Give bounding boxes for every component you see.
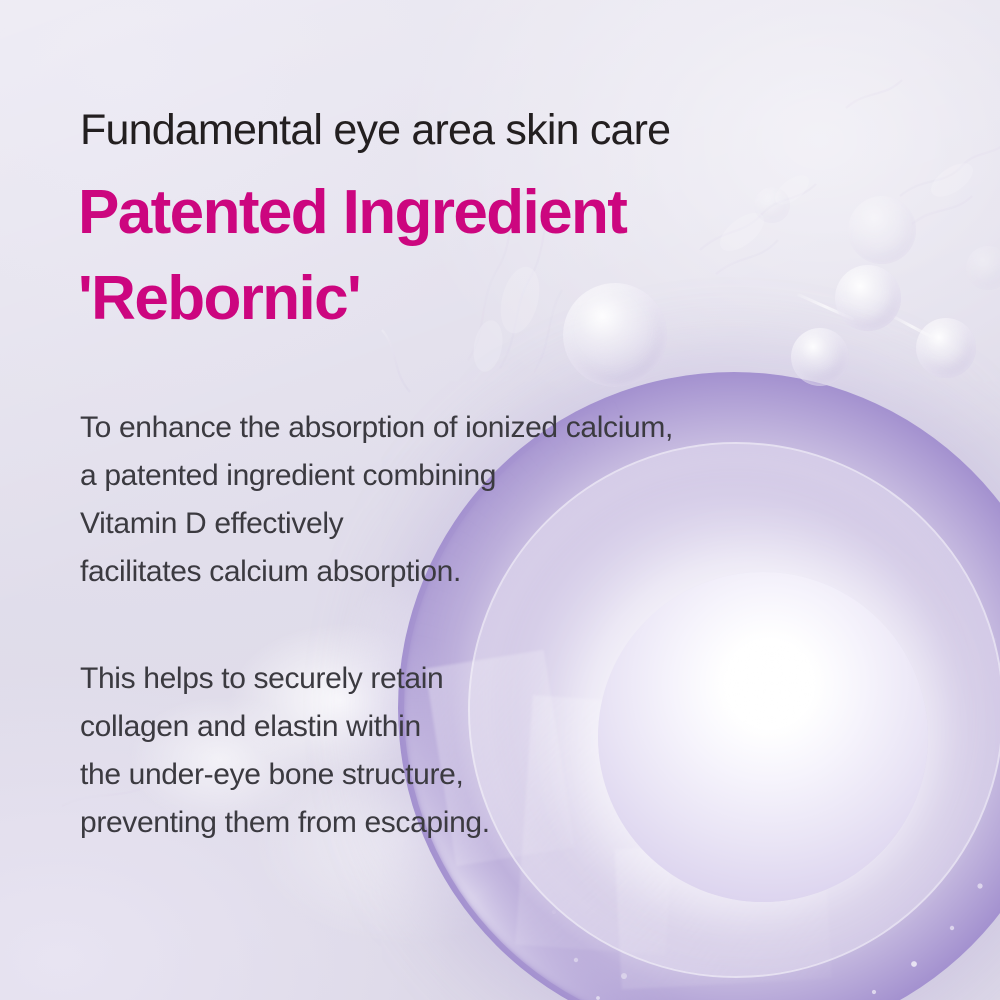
body-line: collagen and elastin within xyxy=(80,703,490,751)
body-line: the under-eye bone structure, xyxy=(80,751,490,799)
headline-line-2: 'Rebornic' xyxy=(78,268,360,330)
headline-line-1: Patented Ingredient xyxy=(78,182,626,244)
body-line: To enhance the absorption of ionized cal… xyxy=(80,404,673,452)
body-line: facilitates calcium absorption. xyxy=(80,548,673,596)
infographic-canvas: Fundamental eye area skin care Patented … xyxy=(0,0,1000,1000)
body-line: preventing them from escaping. xyxy=(80,799,490,847)
body-line: This helps to securely retain xyxy=(80,655,490,703)
body-paragraph-2: This helps to securely retain collagen a… xyxy=(80,655,490,847)
eyebrow-heading: Fundamental eye area skin care xyxy=(80,108,670,153)
body-line: Vitamin D effectively xyxy=(80,500,673,548)
body-line: a patented ingredient combining xyxy=(80,452,673,500)
body-paragraph-1: To enhance the absorption of ionized cal… xyxy=(80,404,673,596)
text-content: Fundamental eye area skin care Patented … xyxy=(0,0,1000,1000)
